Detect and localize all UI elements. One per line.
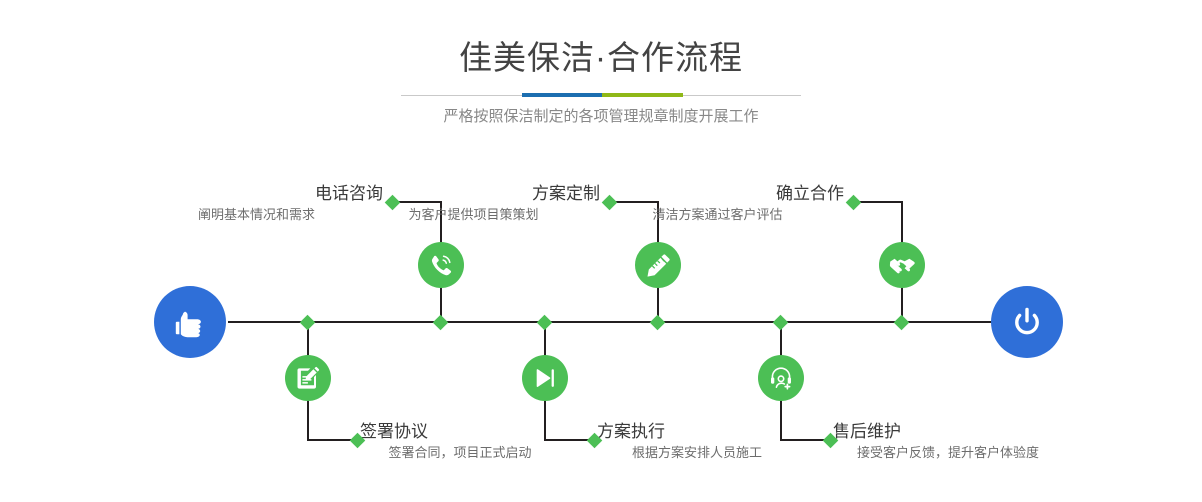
step-label-1: 电话咨询 阐明基本情况和需求 (130, 183, 383, 225)
step-desc-1: 阐明基本情况和需求 (130, 205, 383, 225)
step-icon-1[interactable] (418, 242, 464, 288)
step-title-5: 售后维护 (833, 421, 1063, 443)
step-desc-2: 签署合同，项目正式启动 (360, 443, 560, 463)
title-divider (401, 93, 801, 97)
flow-end-node[interactable] (991, 286, 1063, 358)
page-subtitle: 严格按照保洁制定的各项管理规章制度开展工作 (0, 105, 1202, 129)
pointing-hand-icon (170, 302, 210, 342)
step-title-4: 方案执行 (597, 421, 797, 443)
step-label-3: 方案定制 为客户提供项目策策划 (347, 183, 600, 225)
step-icon-2[interactable] (285, 355, 331, 401)
connector-diamond-step6 (846, 194, 862, 210)
handshake-icon (888, 251, 916, 279)
step-icon-5[interactable] (758, 355, 804, 401)
step-desc-3: 为客户提供项目策策划 (347, 205, 600, 225)
step-label-2: 签署协议 签署合同，项目正式启动 (360, 421, 560, 463)
step-icon-6[interactable] (879, 242, 925, 288)
step-title-6: 确立合作 (591, 183, 844, 205)
step-icon-3[interactable] (635, 242, 681, 288)
step-title-2: 签署协议 (360, 421, 560, 443)
step-icon-4[interactable] (522, 355, 568, 401)
customer-support-icon (768, 365, 794, 391)
spine-diamond-step2 (300, 314, 316, 330)
step-label-4: 方案执行 根据方案安排人员施工 (597, 421, 797, 463)
divider-blue-segment (522, 93, 602, 97)
spine-diamond-step6 (894, 314, 910, 330)
spine-diamond-step3 (650, 314, 666, 330)
step-title-1: 电话咨询 (130, 183, 383, 205)
flow-start-node[interactable] (154, 286, 226, 358)
process-flow-infographic: 佳美保洁·合作流程 严格按照保洁制定的各项管理规章制度开展工作 (0, 0, 1202, 502)
document-edit-icon (295, 365, 321, 391)
flow-diagram: 电话咨询 阐明基本情况和需求 签署协议 签署合同，项目正式启动 (0, 150, 1202, 502)
step-desc-4: 根据方案安排人员施工 (597, 443, 797, 463)
step-desc-5: 接受客户反馈，提升客户体验度 (833, 443, 1063, 463)
timeline-spine (228, 321, 998, 323)
step-label-6: 确立合作 清洁方案通过客户评估 (591, 183, 844, 225)
spine-diamond-step4 (537, 314, 553, 330)
power-icon (1007, 302, 1047, 342)
spine-diamond-step1 (433, 314, 449, 330)
page-title: 佳美保洁·合作流程 (0, 36, 1202, 80)
header: 佳美保洁·合作流程 严格按照保洁制定的各项管理规章制度开展工作 (0, 0, 1202, 150)
play-to-end-icon (532, 365, 558, 391)
pencil-ruler-icon (645, 252, 672, 279)
phone-call-icon (427, 251, 455, 279)
divider-green-segment (602, 93, 683, 97)
step-desc-6: 清洁方案通过客户评估 (591, 205, 844, 225)
spine-diamond-step5 (773, 314, 789, 330)
step-label-5: 售后维护 接受客户反馈，提升客户体验度 (833, 421, 1063, 463)
